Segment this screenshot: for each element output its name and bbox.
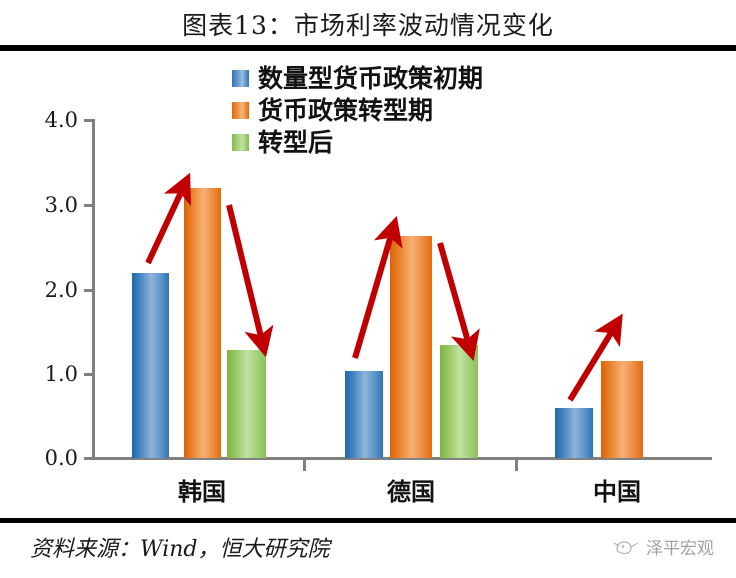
- watermark-text: 泽平宏观: [646, 534, 714, 559]
- y-tick-1: [84, 373, 95, 376]
- bar-德国-货币政策转型期[interactable]: [390, 236, 432, 458]
- y-tick-0: [84, 457, 95, 460]
- bar-韩国-转型后[interactable]: [227, 350, 266, 458]
- x-tick-label-0: 韩国: [137, 472, 267, 507]
- y-tick-label-2: 2.0: [20, 278, 78, 302]
- x-separator-tick-2: [515, 460, 518, 471]
- y-tick-label-4: 4.0: [20, 108, 78, 132]
- arrow-up-germany-icon: [355, 232, 392, 358]
- plot-area: 4.0 3.0 2.0 1.0 0.0: [0, 0, 736, 578]
- y-tick-label-0: 0.0: [20, 446, 78, 470]
- bar-中国-数量型货币政策初期[interactable]: [555, 408, 593, 458]
- y-tick-3: [84, 204, 95, 207]
- x-tick-label-2: 中国: [552, 472, 682, 507]
- bird-logo-icon: [612, 537, 640, 557]
- figure-container: 图表13：市场利率波动情况变化 数量型货币政策初期 货币政策转型期 转型后 4.…: [0, 0, 736, 578]
- x-separator-tick-1: [303, 460, 306, 471]
- bar-中国-货币政策转型期[interactable]: [601, 361, 643, 458]
- y-tick-label-3: 3.0: [20, 193, 78, 217]
- bar-德国-转型后[interactable]: [440, 345, 478, 458]
- watermark: 泽平宏观: [612, 534, 714, 559]
- y-tick-4: [84, 119, 95, 122]
- x-tick-label-1: 德国: [346, 472, 476, 507]
- bar-韩国-货币政策转型期[interactable]: [184, 188, 221, 458]
- y-tick-label-1: 1.0: [20, 362, 78, 386]
- arrow-down-germany-icon: [440, 243, 469, 345]
- bar-德国-数量型货币政策初期[interactable]: [345, 371, 383, 458]
- source-note: 资料来源：Wind，恒大研究院: [30, 531, 330, 563]
- y-tick-2: [84, 289, 95, 292]
- bar-韩国-数量型货币政策初期[interactable]: [132, 273, 169, 458]
- arrow-down-korea-icon: [229, 205, 262, 341]
- footer-rule: [0, 518, 736, 523]
- arrow-up-korea-icon: [148, 188, 183, 263]
